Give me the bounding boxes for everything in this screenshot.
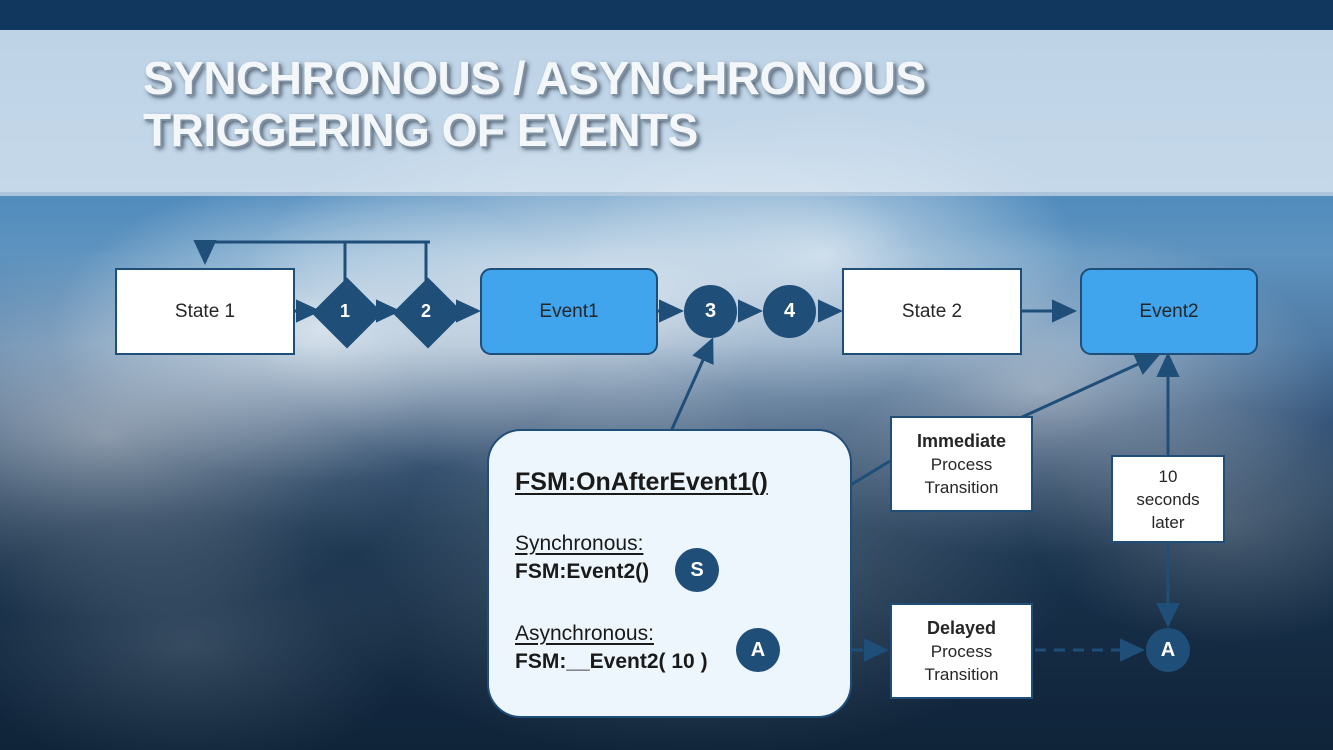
node-event-2-label: Event2 — [1139, 301, 1198, 323]
annotation-delay-line-3: later — [1151, 511, 1184, 534]
node-state-2-label: State 2 — [902, 301, 962, 323]
step-circle-3-label: 3 — [705, 300, 716, 323]
annotation-immediate-head: Immediate — [917, 430, 1006, 453]
async-target-marker-label: A — [1161, 639, 1175, 662]
annotation-delayed-line-2: Process — [931, 640, 992, 663]
sync-marker-circle[interactable]: S — [675, 548, 719, 592]
node-event-1[interactable]: Event1 — [480, 268, 658, 355]
annotation-delayed[interactable]: Delayed Process Transition — [890, 603, 1033, 699]
fsm-callout-title: FSM:OnAfterEvent1() — [515, 468, 768, 497]
fsm-sync-label: Synchronous: — [515, 532, 643, 556]
annotation-immediate-line-3: Transition — [924, 476, 998, 499]
annotation-immediate-line-2: Process — [931, 453, 992, 476]
step-circle-3[interactable]: 3 — [684, 285, 737, 338]
node-state-1[interactable]: State 1 — [115, 268, 295, 355]
step-circle-4-label: 4 — [784, 300, 795, 323]
annotation-delayed-head: Delayed — [927, 617, 996, 640]
async-target-marker-circle[interactable]: A — [1146, 628, 1190, 672]
fsm-async-code: FSM:__Event2( 10 ) — [515, 650, 708, 674]
decision-2-label: 2 — [403, 288, 449, 334]
fsm-async-label: Asynchronous: — [515, 622, 654, 646]
decision-1-label: 1 — [322, 288, 368, 334]
wire-callout-to-3 — [668, 340, 712, 438]
annotation-delay[interactable]: 10 seconds later — [1111, 455, 1225, 543]
annotation-delay-line-2: seconds — [1136, 488, 1199, 511]
async-marker-circle[interactable]: A — [736, 628, 780, 672]
async-marker-label: A — [751, 639, 765, 662]
node-event-1-label: Event1 — [539, 301, 598, 323]
node-event-2[interactable]: Event2 — [1080, 268, 1258, 355]
annotation-immediate[interactable]: Immediate Process Transition — [890, 416, 1033, 512]
annotation-delay-line-1: 10 — [1159, 465, 1178, 488]
node-state-2[interactable]: State 2 — [842, 268, 1022, 355]
fsm-sync-code: FSM:Event2() — [515, 560, 649, 584]
wire-immediate-to-event2 — [1020, 355, 1158, 418]
annotation-delayed-line-3: Transition — [924, 663, 998, 686]
node-state-1-label: State 1 — [175, 301, 235, 323]
step-circle-4[interactable]: 4 — [763, 285, 816, 338]
slide-canvas: SYNCHRONOUS / ASYNCHRONOUS TRIGGERING OF… — [0, 0, 1333, 750]
sync-marker-label: S — [690, 559, 703, 582]
